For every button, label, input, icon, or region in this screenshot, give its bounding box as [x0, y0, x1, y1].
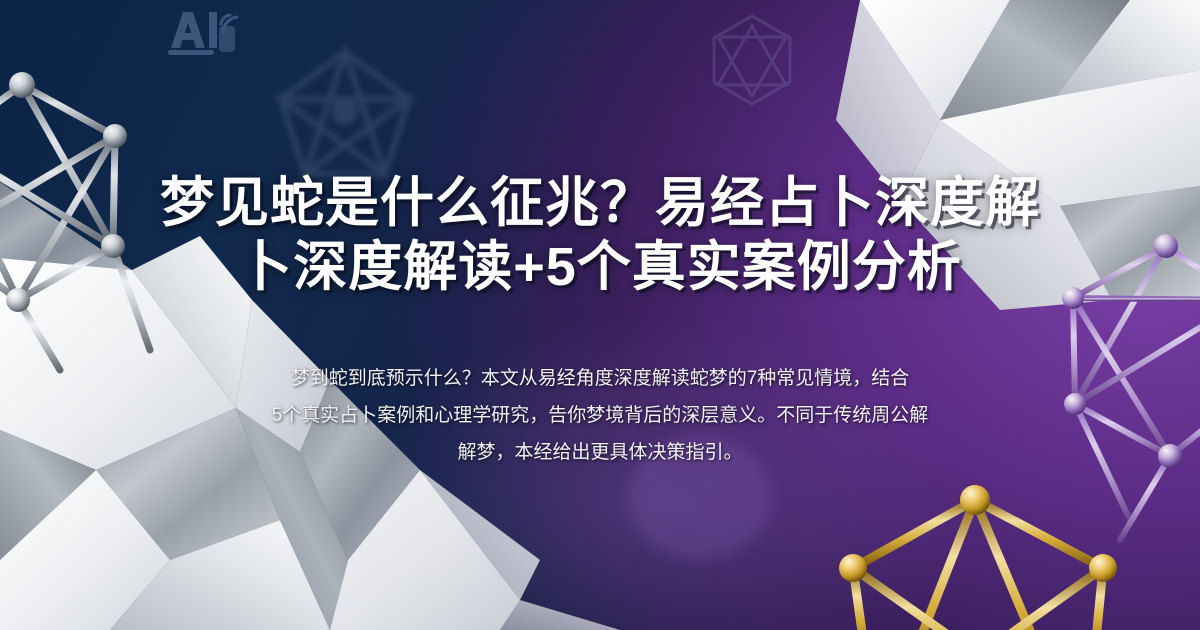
hexagram-watermark	[714, 16, 790, 104]
node-sphere	[960, 485, 990, 515]
low-poly-crystal-shards-bottom	[500, 600, 620, 630]
purple-glow	[628, 436, 772, 560]
node-sphere	[839, 554, 867, 582]
node-sphere	[101, 234, 125, 258]
decoration-layer	[0, 0, 1200, 630]
node-sphere	[1062, 287, 1084, 309]
node-sphere	[1089, 554, 1117, 582]
node-sphere	[1064, 393, 1086, 415]
node-sphere	[6, 288, 30, 312]
node-sphere	[1158, 444, 1182, 468]
cover-banner: 梦见蛇是什么征兆？易经占卜深度解卜深度解读+5个真实案例分析 梦到蛇到底预示什么…	[0, 0, 1200, 630]
pentagon-watermark	[281, 52, 409, 174]
gold-pentagram-wireframe-bottom	[839, 485, 1117, 630]
node-sphere	[1154, 234, 1178, 258]
node-sphere	[9, 72, 35, 98]
low-poly-crystal-shards-left	[0, 182, 540, 630]
node-sphere	[103, 124, 127, 148]
ai-signal-logo	[163, 4, 243, 56]
